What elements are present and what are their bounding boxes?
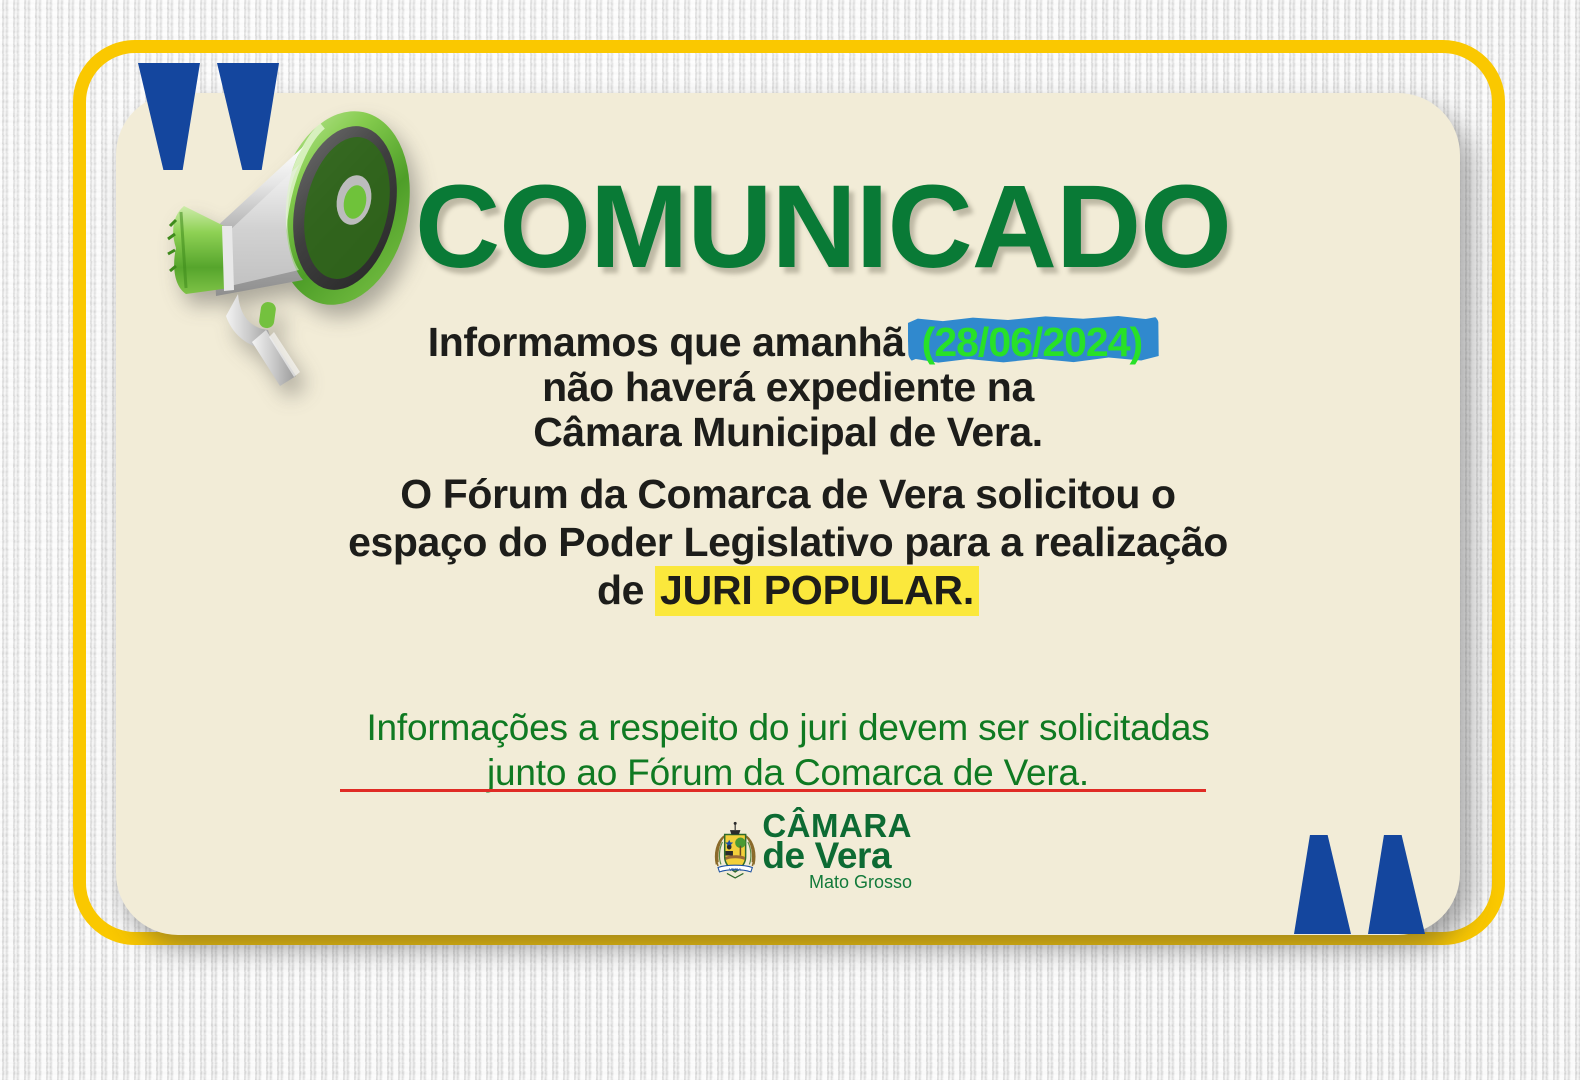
- red-divider-rule: [340, 789, 1206, 792]
- logo-devera-text: de Vera: [762, 839, 912, 873]
- announcement-date: (28/06/2024): [922, 319, 1143, 365]
- juri-popular-highlight: JURI POPULAR.: [655, 566, 979, 616]
- quote-mark-icon-bottom-right: [1294, 835, 1425, 934]
- footnote-line1: Informações a respeito do juri devem ser…: [116, 705, 1460, 750]
- paragraph2-line3: de JURI POPULAR.: [116, 566, 1460, 614]
- paragraph1-line1-text: Informamos que amanhã: [428, 319, 905, 365]
- paragraph2-line3-text: de: [597, 567, 644, 613]
- logo-wordmark: CÂMARA de Vera Mato Grosso: [762, 811, 912, 891]
- footnote-text: Informações a respeito do juri devem ser…: [116, 705, 1460, 795]
- quote-mark-icon: [1368, 835, 1425, 934]
- camara-de-vera-logo: VERA CÂMARA de Vera Mato Grosso: [712, 808, 912, 894]
- page-title: COMUNICADO: [415, 168, 1231, 286]
- quote-mark-icon: [1294, 835, 1351, 934]
- coat-of-arms-shield-icon: VERA: [712, 809, 758, 893]
- communique-poster: COMUNICADO Informamos que amanhã (28/06/…: [0, 0, 1580, 1080]
- shield-banner-text: VERA: [729, 867, 741, 872]
- paragraph2-line2: espaço do Poder Legislativo para a reali…: [116, 518, 1460, 566]
- announcement-paragraph-2: O Fórum da Comarca de Vera solicitou o e…: [116, 470, 1460, 614]
- paragraph1-line2: não haverá expediente na: [116, 365, 1460, 410]
- paragraph2-line1: O Fórum da Comarca de Vera solicitou o: [116, 470, 1460, 518]
- date-highlight: (28/06/2024): [916, 320, 1149, 365]
- announcement-paragraph-1: Informamos que amanhã (28/06/2024) não h…: [116, 320, 1460, 455]
- paragraph1-line3: Câmara Municipal de Vera.: [116, 410, 1460, 455]
- paragraph1-line1: Informamos que amanhã (28/06/2024): [116, 320, 1460, 365]
- logo-state-text: Mato Grosso: [762, 874, 912, 891]
